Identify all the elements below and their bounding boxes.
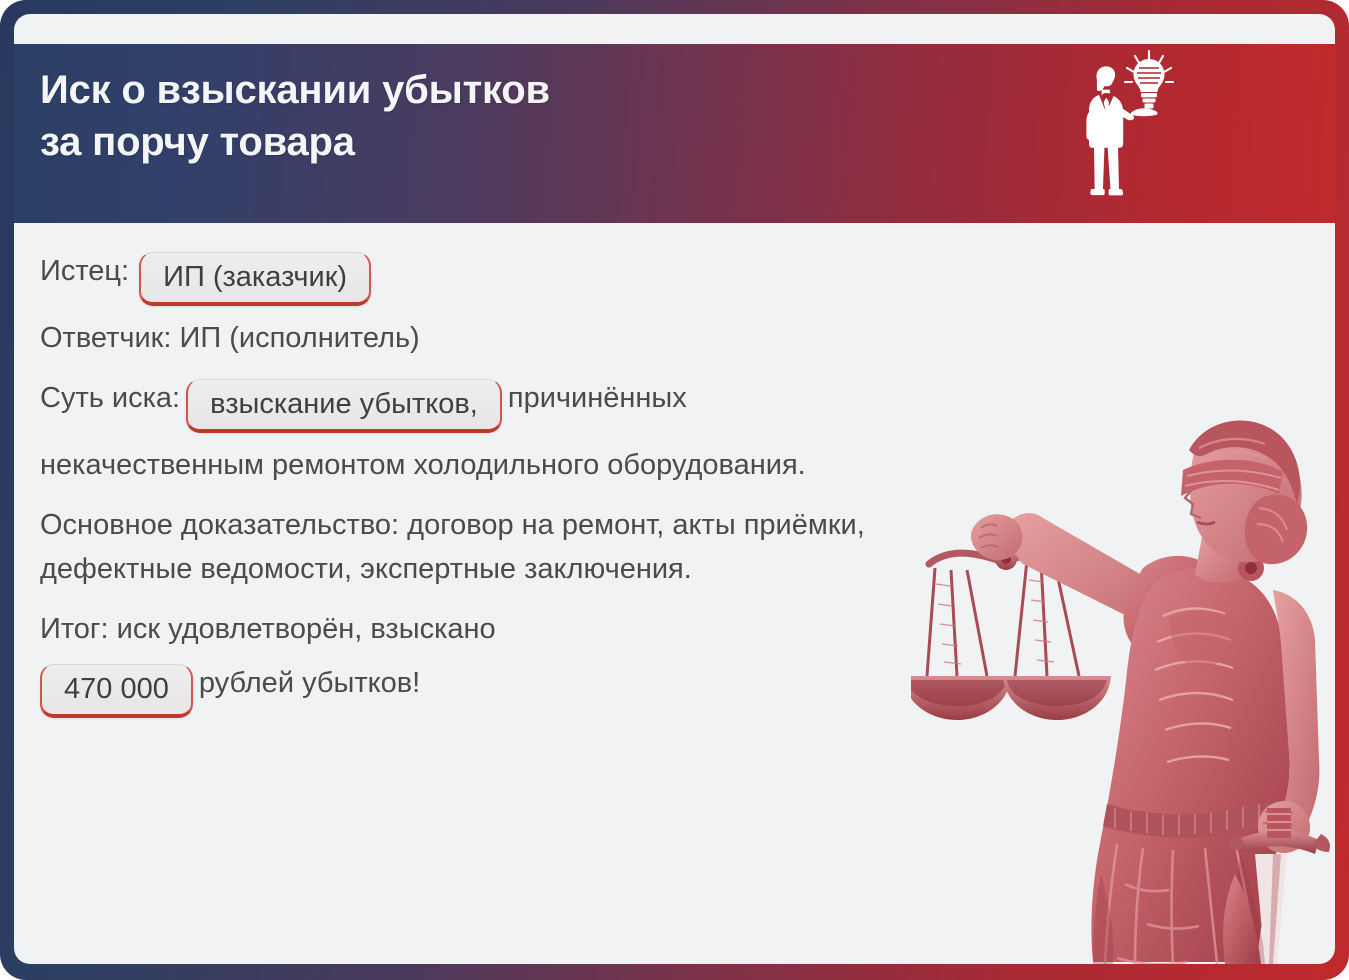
card-header: Иск о взыскании убытков за порчу товара [14,44,1335,223]
row-amount: 470 000рублей убытков! [40,661,970,718]
row-defendant: Ответчик: ИП (исполнитель) [40,316,970,360]
row-claim-subject: Суть иска:взыскание убытков,причинённых [40,376,970,433]
defendant-label: Ответчик: ИП (исполнитель) [40,322,420,354]
amount-tail: рублей убытков! [199,667,420,699]
plaintiff-value-pill[interactable]: ИП (заказчик) [139,252,371,306]
evidence-text: Основное доказательство: договор на ремо… [40,509,865,585]
claim-subject-continued-text: некачественным ремонтом холодильного обо… [40,449,806,481]
claim-subject-value-pill[interactable]: взыскание убытков, [186,379,502,433]
card-body: Истец:ИП (заказчик) Ответчик: ИП (исполн… [14,223,1335,964]
claim-subject-tail: причинённых [508,382,687,414]
row-plaintiff: Истец:ИП (заказчик) [40,249,970,306]
page-title: Иск о взыскании убытков за порчу товара [40,64,550,168]
lady-justice-illustration [911,404,1335,964]
result-label: Итог: иск удовлетворён, взыскано [40,613,496,645]
claim-subject-label: Суть иска: [40,382,180,414]
amount-value-pill[interactable]: 470 000 [40,664,193,718]
outer-gradient-frame: Иск о взыскании убытков за порчу товара [0,0,1349,980]
infographic-card: Иск о взыскании убытков за порчу товара [14,14,1335,964]
row-result: Итог: иск удовлетворён, взыскано [40,607,970,651]
businessman-with-lightbulb-icon [1069,46,1189,206]
row-claim-subject-continued: некачественным ремонтом холодильного обо… [40,443,940,487]
plaintiff-label: Истец: [40,255,129,287]
row-evidence: Основное доказательство: договор на ремо… [40,503,940,591]
